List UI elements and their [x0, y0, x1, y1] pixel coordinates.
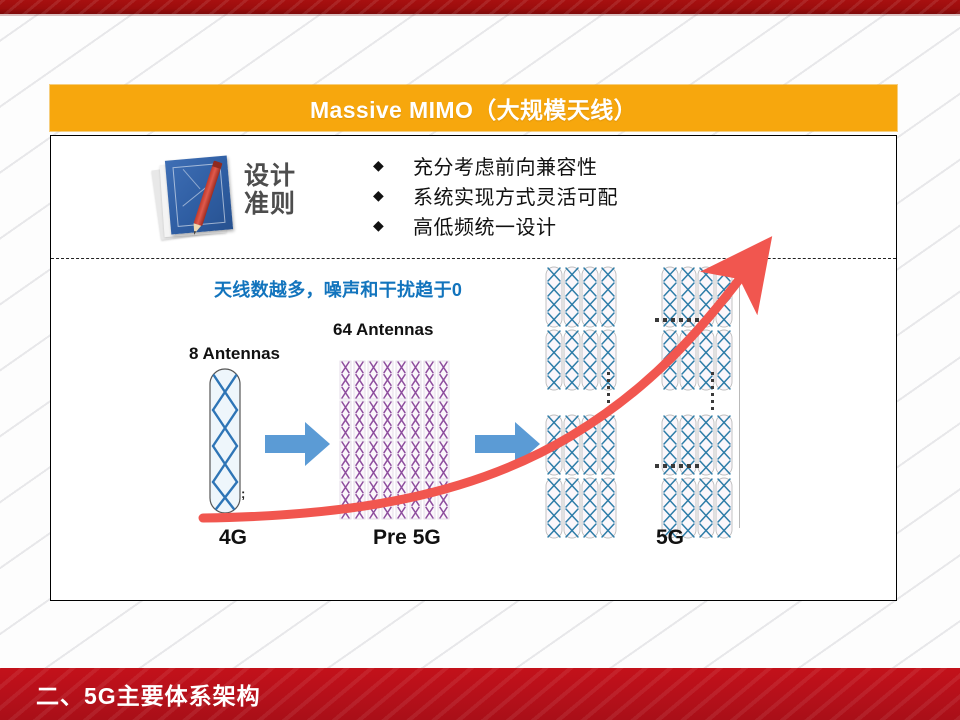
design-guideline-label: 设计 准则 [244, 162, 296, 218]
section-divider [51, 258, 896, 259]
list-item: ◆ 高低频统一设计 [373, 210, 618, 240]
diamond-bullet-icon: ◆ [373, 158, 413, 172]
blueprint-book-icon [162, 158, 236, 238]
bullet-text: 充分考虑前向兼容性 [413, 151, 598, 180]
top-band-stripes [0, 0, 960, 14]
page-title: Massive MIMO（大规模天线） [310, 91, 637, 125]
bullet-list: ◆ 充分考虑前向兼容性 ◆ 系统实现方式灵活可配 ◆ 高低频统一设计 [373, 150, 618, 240]
guideline-label-line2: 准则 [244, 190, 296, 218]
axis-label-pre5g: Pre 5G [373, 526, 441, 550]
diamond-bullet-icon: ◆ [373, 188, 413, 202]
design-guideline-block: 设计 准则 [156, 148, 346, 248]
massive-mimo-diagram: 天线数越多，噪声和干扰趋于0 8 Antennas 64 Antennas ; [51, 260, 896, 601]
bullet-text: 高低频统一设计 [413, 211, 557, 240]
bullet-text: 系统实现方式灵活可配 [413, 181, 618, 210]
trend-curve [51, 260, 898, 601]
content-card: 设计 准则 ◆ 充分考虑前向兼容性 ◆ 系统实现方式灵活可配 ◆ 高低频统一设计… [50, 135, 897, 601]
footer-section-title: 二、5G主要体系架构 [36, 677, 261, 711]
footer-band: 二、5G主要体系架构 [0, 668, 960, 720]
diamond-bullet-icon: ◆ [373, 218, 413, 232]
list-item: ◆ 充分考虑前向兼容性 [373, 150, 618, 180]
list-item: ◆ 系统实现方式灵活可配 [373, 180, 618, 210]
slide-title-bar: Massive MIMO（大规模天线） [50, 85, 897, 131]
top-band-edge [0, 14, 960, 16]
axis-label-5g: 5G [656, 526, 684, 550]
axis-label-4g: 4G [219, 526, 247, 550]
guideline-label-line1: 设计 [244, 162, 296, 190]
top-decorative-band [0, 0, 960, 14]
